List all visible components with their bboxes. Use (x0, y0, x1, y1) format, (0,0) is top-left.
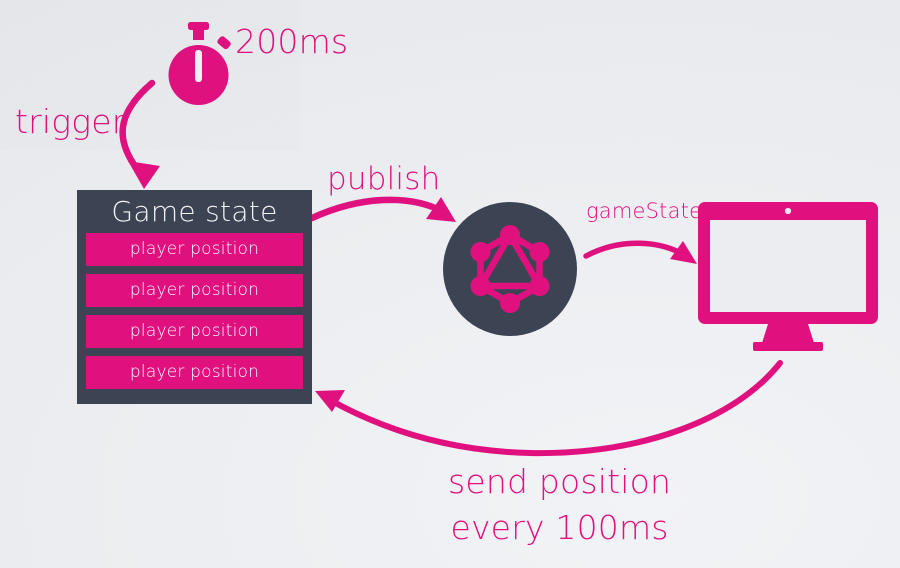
game-state-title: Game state (86, 195, 303, 229)
send-position-line-2: every 100ms (448, 505, 671, 551)
graphql-logo-icon (443, 202, 577, 336)
trigger-label: trigger (15, 104, 126, 141)
player-position-row: player position (86, 233, 303, 266)
gamestate-label: gameState (586, 200, 702, 224)
send-position-label: send position every 100ms (448, 459, 671, 550)
arrow-gamestate (586, 241, 697, 264)
arrow-trigger (123, 83, 160, 189)
player-position-row: player position (86, 274, 303, 307)
arrow-publish (312, 197, 456, 222)
player-position-row: player position (86, 356, 303, 389)
diagram-canvas: Game state player position player positi… (0, 0, 900, 568)
arrow-send-position (315, 363, 780, 453)
publish-label: publish (327, 162, 440, 197)
desktop-monitor-icon (696, 200, 880, 352)
player-position-row: player position (86, 315, 303, 348)
send-position-line-1: send position (448, 462, 671, 501)
game-state-panel: Game state player position player positi… (77, 190, 312, 404)
interval-label: 200ms (235, 24, 348, 61)
stopwatch-icon (160, 22, 242, 112)
